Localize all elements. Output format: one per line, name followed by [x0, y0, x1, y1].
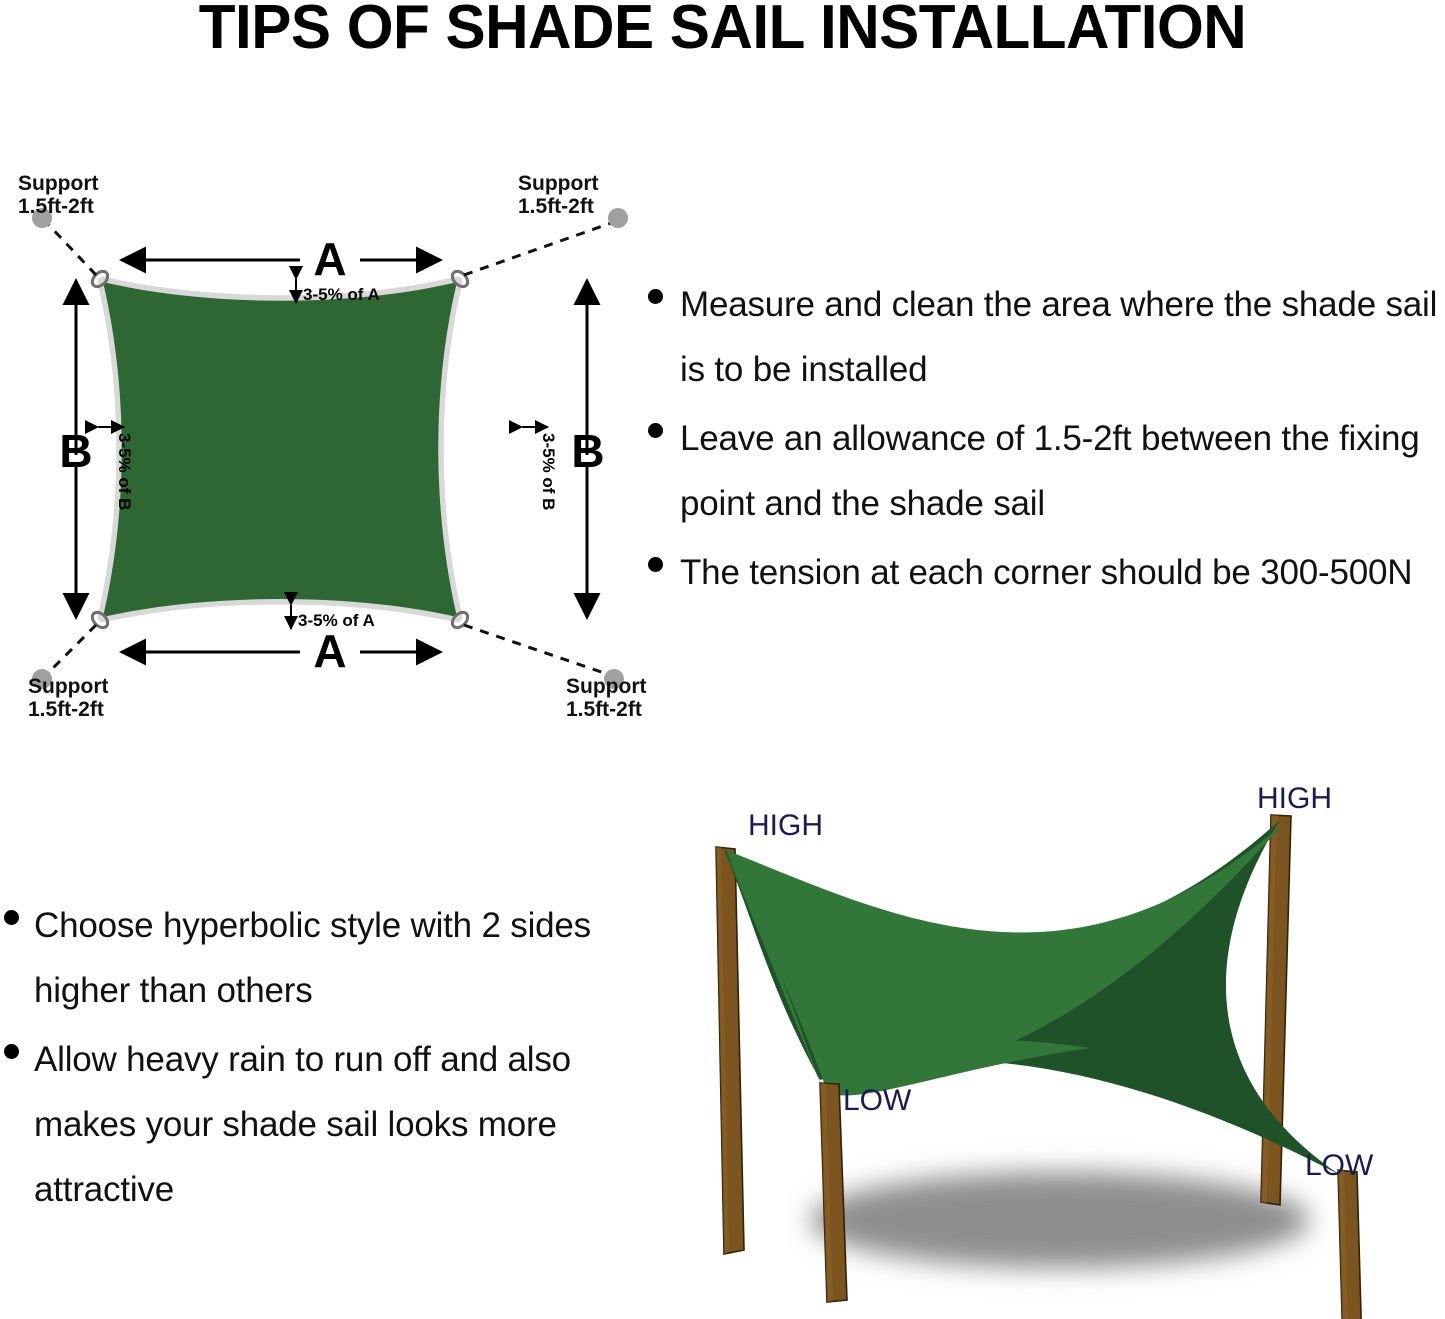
hyperbolic-sail-diagram: HIGH HIGH LOW LOW [640, 780, 1445, 1319]
dimension-a-top-label: A [313, 233, 346, 285]
label-high-right: HIGH [1257, 782, 1332, 815]
support-label-top-left: Support 1.5ft-2ft [18, 172, 98, 218]
bullet-dot-icon [648, 423, 663, 438]
dimension-b-left-label: B [59, 425, 92, 477]
support-label-line1: Support [518, 172, 598, 195]
list-item: Leave an allowance of 1.5-2ft between th… [648, 406, 1445, 536]
ground-shadow [810, 1172, 1310, 1268]
curve-a-bottom-label: 3-5% of A [298, 611, 375, 630]
support-label-line2: 1.5ft-2ft [518, 195, 594, 218]
tip-text: The tension at each corner should be 300… [680, 540, 1412, 605]
support-label-line1: Support [28, 675, 108, 698]
tip-text: Allow heavy rain to run off and also mak… [34, 1027, 624, 1222]
support-label-bottom-left: Support 1.5ft-2ft [28, 675, 108, 721]
dimension-a-bottom-label: A [313, 625, 346, 677]
tip-text: Measure and clean the area where the sha… [680, 272, 1445, 402]
page-title: TIPS OF SHADE SAIL INSTALLATION [22, 0, 1424, 60]
list-item: Measure and clean the area where the sha… [648, 272, 1445, 402]
bullet-dot-icon [648, 557, 663, 572]
support-label-bottom-right: Support 1.5ft-2ft [566, 675, 646, 721]
post-right-low [1338, 1170, 1362, 1319]
curve-b-right-label: 3-5% of B [539, 433, 558, 510]
list-item: Choose hyperbolic style with 2 sides hig… [4, 893, 624, 1023]
list-item: The tension at each corner should be 300… [648, 540, 1445, 605]
label-low-right: LOW [1305, 1149, 1374, 1182]
bullet-dot-icon [648, 289, 663, 304]
label-low-left: LOW [843, 1084, 912, 1117]
support-label-line1: Support [566, 675, 646, 698]
rectangular-sail-diagram: Support 1.5ft-2ft Support 1.5ft-2ft Supp… [0, 165, 660, 725]
bullet-dot-icon [4, 1044, 19, 1059]
curve-b-left-label: 3-5% of B [115, 433, 134, 510]
tips-list-bottom: Choose hyperbolic style with 2 sides hig… [4, 893, 624, 1226]
tip-text: Leave an allowance of 1.5-2ft between th… [680, 406, 1445, 536]
post-left-high [716, 847, 744, 1254]
curve-a-top-label: 3-5% of A [303, 285, 380, 304]
dimension-b-right-label: B [571, 425, 604, 477]
support-label-line1: Support [18, 172, 98, 195]
label-high-left: HIGH [748, 809, 823, 842]
tip-text: Choose hyperbolic style with 2 sides hig… [34, 893, 624, 1023]
support-label-line2: 1.5ft-2ft [28, 698, 104, 721]
support-label-line2: 1.5ft-2ft [566, 698, 642, 721]
support-label-top-right: Support 1.5ft-2ft [518, 172, 598, 218]
sail-body [103, 282, 457, 617]
support-label-line2: 1.5ft-2ft [18, 195, 94, 218]
list-item: Allow heavy rain to run off and also mak… [4, 1027, 624, 1222]
bullet-dot-icon [4, 910, 19, 925]
tips-list-top: Measure and clean the area where the sha… [648, 272, 1445, 609]
